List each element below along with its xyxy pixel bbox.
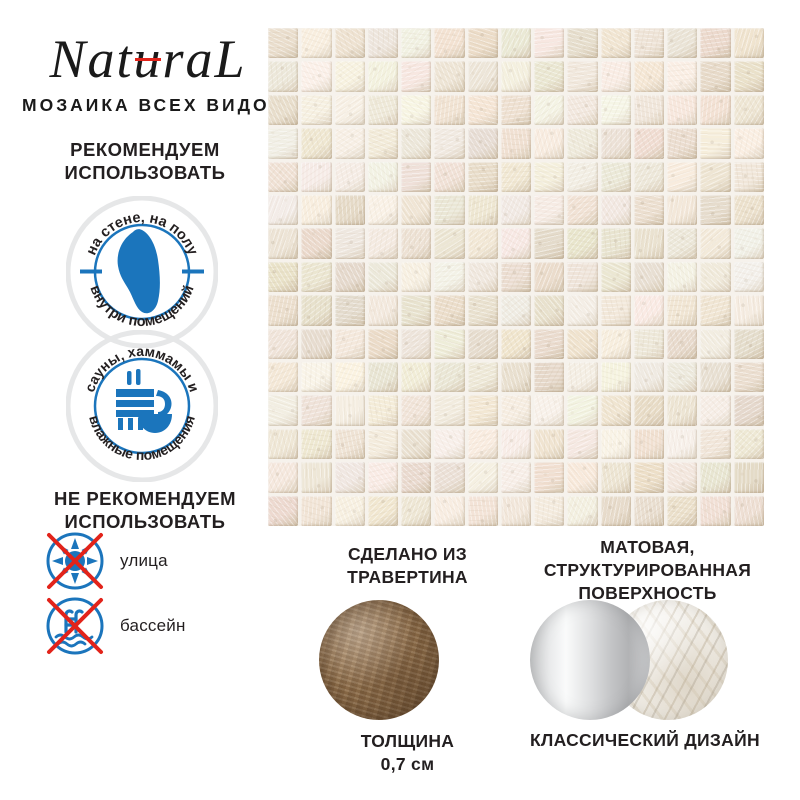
mosaic-tile	[434, 395, 464, 425]
mosaic-tile	[301, 462, 331, 492]
badge-tick-right	[182, 270, 204, 274]
mosaic-tile	[700, 195, 730, 225]
mosaic-tile	[634, 496, 664, 526]
mosaic-tile	[434, 429, 464, 459]
mosaic-tile	[734, 395, 764, 425]
mosaic-tile	[434, 228, 464, 258]
recommended-heading: РЕКОМЕНДУЕМ ИСПОЛЬЗОВАТЬ	[20, 138, 270, 184]
mosaic-tile	[734, 228, 764, 258]
mosaic-tile	[434, 162, 464, 192]
mosaic-tile	[501, 496, 531, 526]
mosaic-tile	[601, 295, 631, 325]
mosaic-tile	[567, 228, 597, 258]
mosaic-tile	[335, 329, 365, 359]
mosaic-tile	[734, 195, 764, 225]
mosaic-tile	[301, 61, 331, 91]
mosaic-tile	[434, 128, 464, 158]
mosaic-tile	[434, 28, 464, 58]
mosaic-tile	[667, 28, 697, 58]
mosaic-tile	[335, 262, 365, 292]
mosaic-tile	[368, 496, 398, 526]
feature-material-title-line2: ТРАВЕРТИНА	[295, 566, 520, 589]
mosaic-tile	[401, 195, 431, 225]
mosaic-tile	[567, 429, 597, 459]
mosaic-tile	[301, 429, 331, 459]
mosaic-tile	[634, 462, 664, 492]
mosaic-tile	[501, 95, 531, 125]
mosaic-tile	[667, 162, 697, 192]
mosaic-tile	[534, 395, 564, 425]
mosaic-tile	[534, 28, 564, 58]
mosaic-tile	[468, 329, 498, 359]
feature-surface-title-line2: СТРУКТУРИРОВАННАЯ	[515, 559, 780, 582]
mosaic-tile	[401, 262, 431, 292]
mosaic-tile	[468, 462, 498, 492]
mosaic-tile	[601, 95, 631, 125]
mosaic-tile	[301, 162, 331, 192]
mosaic-tile	[534, 329, 564, 359]
mosaic-tile	[401, 28, 431, 58]
mosaic-tile	[634, 329, 664, 359]
mosaic-tile	[401, 228, 431, 258]
mosaic-tile	[501, 362, 531, 392]
mosaic-tile	[667, 462, 697, 492]
mosaic-tile	[468, 195, 498, 225]
mosaic-tile	[734, 128, 764, 158]
mosaic-tile	[667, 128, 697, 158]
mosaic-tile	[368, 429, 398, 459]
feature-surface-title: МАТОВАЯ, СТРУКТУРИРОВАННАЯ ПОВЕРХНОСТЬ	[515, 536, 780, 604]
mosaic-tile	[534, 496, 564, 526]
mosaic-tile	[268, 228, 298, 258]
mosaic-tile	[268, 28, 298, 58]
mosaic-tile	[434, 329, 464, 359]
mosaic-tile	[734, 61, 764, 91]
mosaic-tile	[268, 61, 298, 91]
not-recommended-label-street: улица	[120, 551, 168, 571]
mosaic-tile	[434, 61, 464, 91]
mosaic-tile	[401, 395, 431, 425]
not-recommended-heading: НЕ РЕКОМЕНДУЕМ ИСПОЛЬЗОВАТЬ	[20, 487, 270, 533]
mosaic-tile	[700, 95, 730, 125]
mosaic-tile	[468, 28, 498, 58]
mosaic-tile	[567, 95, 597, 125]
mosaic-tile	[335, 61, 365, 91]
mosaic-tile	[368, 395, 398, 425]
mosaic-tile	[434, 362, 464, 392]
mosaic-tile	[268, 95, 298, 125]
mosaic-tile	[734, 28, 764, 58]
mosaic-tile	[734, 362, 764, 392]
mosaic-tile	[468, 429, 498, 459]
mosaic-tile	[301, 496, 331, 526]
mosaic-tile	[268, 262, 298, 292]
mosaic-tile	[434, 262, 464, 292]
brand-tagline: МОЗАИКА ВСЕХ ВИДОВ	[22, 95, 274, 116]
mosaic-tile	[401, 295, 431, 325]
mosaic-tile	[501, 61, 531, 91]
mosaic-tile	[734, 462, 764, 492]
badge-indoor-wall-floor: на стене, на полу внутри помещений	[66, 196, 218, 348]
mosaic-tile	[268, 128, 298, 158]
mosaic-tile	[335, 228, 365, 258]
mosaic-tile	[667, 496, 697, 526]
mosaic-tile	[734, 162, 764, 192]
mosaic-tile	[501, 228, 531, 258]
mosaic-tile	[501, 429, 531, 459]
mosaic-tile	[700, 162, 730, 192]
mosaic-tile	[567, 462, 597, 492]
feature-surface-title-line1: МАТОВАЯ,	[515, 536, 780, 559]
mosaic-tile	[567, 128, 597, 158]
mosaic-tile	[601, 462, 631, 492]
badge-sauna-wet-rooms: сауны, хаммамы и влажные помещения	[66, 330, 218, 482]
mosaic-tile	[468, 95, 498, 125]
mosaic-tile	[534, 195, 564, 225]
mosaic-tile	[534, 228, 564, 258]
mosaic-tile	[567, 262, 597, 292]
mosaic-tile	[368, 28, 398, 58]
mosaic-tile	[667, 228, 697, 258]
mosaic-tile	[601, 362, 631, 392]
mosaic-tile	[301, 329, 331, 359]
mosaic-tile	[401, 61, 431, 91]
matte-silver-swatch	[530, 600, 650, 720]
mosaic-tile	[700, 28, 730, 58]
mosaic-tile	[601, 61, 631, 91]
mosaic-tile	[268, 395, 298, 425]
mosaic-tile	[567, 395, 597, 425]
mosaic-tile	[368, 61, 398, 91]
mosaic-tile	[434, 295, 464, 325]
mosaic-tile	[301, 95, 331, 125]
mosaic-tile	[634, 262, 664, 292]
mosaic-tile	[667, 262, 697, 292]
mosaic-tile	[434, 95, 464, 125]
mosaic-tile	[335, 295, 365, 325]
mosaic-tile	[401, 128, 431, 158]
mosaic-tile	[634, 395, 664, 425]
mosaic-tile	[335, 28, 365, 58]
product-infographic: NaturaL МОЗАИКА ВСЕХ ВИДОВ РЕКОМЕНДУЕМ И…	[0, 0, 800, 800]
badge-tick-left	[80, 270, 102, 274]
mosaic-tile	[634, 362, 664, 392]
mosaic-tile	[434, 195, 464, 225]
mosaic-tile	[534, 162, 564, 192]
mosaic-tile	[335, 128, 365, 158]
mosaic-tile	[468, 362, 498, 392]
mosaic-tile	[734, 262, 764, 292]
mosaic-tile	[601, 262, 631, 292]
travertine-mosaic-image	[268, 28, 764, 526]
mosaic-tile	[534, 61, 564, 91]
mosaic-tile	[601, 429, 631, 459]
mosaic-tile	[601, 228, 631, 258]
mosaic-tile	[301, 195, 331, 225]
mosaic-tile	[401, 162, 431, 192]
mosaic-tile	[401, 329, 431, 359]
mosaic-tile	[368, 162, 398, 192]
feature-surface-title-line3: ПОВЕРХНОСТЬ	[515, 582, 780, 605]
mosaic-tile	[268, 162, 298, 192]
mosaic-tile	[301, 295, 331, 325]
brand-name: NaturaL	[49, 32, 246, 86]
mosaic-tile	[667, 295, 697, 325]
mosaic-tile	[634, 28, 664, 58]
mosaic-tile	[567, 162, 597, 192]
mosaic-tile	[634, 295, 664, 325]
mosaic-tile	[567, 329, 597, 359]
feature-design-caption: КЛАССИЧЕСКИЙ ДИЗАЙН	[505, 729, 785, 752]
mosaic-tile	[700, 61, 730, 91]
mosaic-tile	[567, 362, 597, 392]
mosaic-tile	[601, 28, 631, 58]
mosaic-tile	[501, 28, 531, 58]
feature-material-title: СДЕЛАНО ИЗ ТРАВЕРТИНА	[295, 543, 520, 589]
mosaic-tile	[534, 128, 564, 158]
mosaic-tile	[468, 295, 498, 325]
mosaic-tile	[567, 295, 597, 325]
recommended-heading-line1: РЕКОМЕНДУЕМ	[20, 138, 270, 161]
mosaic-tile	[501, 195, 531, 225]
mosaic-tile	[501, 329, 531, 359]
mosaic-tile	[335, 429, 365, 459]
mosaic-tile	[534, 295, 564, 325]
mosaic-tile	[700, 329, 730, 359]
swimming-pool-icon	[44, 595, 106, 657]
mosaic-tile	[700, 128, 730, 158]
mosaic-tile	[335, 162, 365, 192]
feature-thickness-line1: ТОЛЩИНА	[295, 730, 520, 753]
mosaic-tile	[567, 195, 597, 225]
mosaic-tile	[601, 162, 631, 192]
mosaic-tile	[301, 128, 331, 158]
mosaic-tile	[534, 262, 564, 292]
mosaic-tile	[301, 362, 331, 392]
mosaic-tile	[301, 395, 331, 425]
mosaic-tile	[700, 462, 730, 492]
mosaic-tile	[601, 195, 631, 225]
feature-thickness-caption: ТОЛЩИНА 0,7 см	[295, 730, 520, 776]
mosaic-tile	[667, 329, 697, 359]
mosaic-tile	[268, 295, 298, 325]
mosaic-tile	[268, 429, 298, 459]
mosaic-tile	[501, 128, 531, 158]
mosaic-tile	[368, 128, 398, 158]
mosaic-tile	[501, 295, 531, 325]
mosaic-tile	[368, 462, 398, 492]
sauna-bucket-icon	[116, 369, 172, 433]
mosaic-tile	[734, 496, 764, 526]
mosaic-tile	[734, 429, 764, 459]
mosaic-tile	[368, 228, 398, 258]
mosaic-tile	[468, 228, 498, 258]
mosaic-tile	[368, 295, 398, 325]
mosaic-tile	[268, 362, 298, 392]
mosaic-tile	[567, 496, 597, 526]
not-recommended-heading-line1: НЕ РЕКОМЕНДУЕМ	[20, 487, 270, 510]
recommended-heading-line2: ИСПОЛЬЗОВАТЬ	[20, 161, 270, 184]
mosaic-tile	[667, 61, 697, 91]
mosaic-tile	[601, 496, 631, 526]
mosaic-tile	[700, 496, 730, 526]
mosaic-tile	[434, 462, 464, 492]
mosaic-tile	[268, 329, 298, 359]
not-recommended-label-pool: бассейн	[120, 616, 186, 636]
mosaic-tile	[734, 295, 764, 325]
mosaic-tile	[335, 395, 365, 425]
mosaic-tile	[301, 228, 331, 258]
logo-accent-bar	[135, 58, 161, 61]
mosaic-tile	[534, 462, 564, 492]
mosaic-tile	[501, 162, 531, 192]
mosaic-tile	[268, 195, 298, 225]
mosaic-tile	[601, 128, 631, 158]
mosaic-tile	[667, 395, 697, 425]
mosaic-tile	[700, 228, 730, 258]
mosaic-tile	[401, 362, 431, 392]
mosaic-tile	[601, 395, 631, 425]
mosaic-tile	[667, 429, 697, 459]
mosaic-tile	[268, 496, 298, 526]
mosaic-tile	[335, 496, 365, 526]
mosaic-tile	[734, 95, 764, 125]
mosaic-tile	[501, 395, 531, 425]
mosaic-tile	[335, 195, 365, 225]
footprint-icon	[118, 229, 160, 313]
mosaic-tile	[368, 329, 398, 359]
mosaic-tile	[468, 128, 498, 158]
mosaic-tile	[567, 28, 597, 58]
feature-material-title-line1: СДЕЛАНО ИЗ	[295, 543, 520, 566]
mosaic-tile	[401, 496, 431, 526]
mosaic-tile	[468, 262, 498, 292]
mosaic-tile	[368, 262, 398, 292]
mosaic-tile	[268, 462, 298, 492]
brand-logo: NaturaL МОЗАИКА ВСЕХ ВИДОВ	[22, 32, 274, 116]
mosaic-tile	[335, 462, 365, 492]
mosaic-tile	[534, 429, 564, 459]
mosaic-tile	[734, 329, 764, 359]
mosaic-tile	[434, 496, 464, 526]
mosaic-tile	[368, 195, 398, 225]
mosaic-tile	[601, 329, 631, 359]
mosaic-tile	[401, 462, 431, 492]
mosaic-tile	[634, 228, 664, 258]
mosaic-tile	[634, 195, 664, 225]
mosaic-tile	[700, 395, 730, 425]
mosaic-tile	[634, 429, 664, 459]
mosaic-tile	[700, 362, 730, 392]
mosaic-tile	[534, 95, 564, 125]
feature-thickness-line2: 0,7 см	[295, 753, 520, 776]
travertine-stone-swatch	[319, 600, 439, 720]
mosaic-tile	[634, 162, 664, 192]
mosaic-tile	[368, 362, 398, 392]
mosaic-tile	[534, 362, 564, 392]
mosaic-tile	[335, 362, 365, 392]
mosaic-tile	[301, 28, 331, 58]
mosaic-tile	[468, 395, 498, 425]
mosaic-tile	[401, 95, 431, 125]
mosaic-tile	[667, 195, 697, 225]
mosaic-tile	[634, 95, 664, 125]
mosaic-tile	[468, 162, 498, 192]
mosaic-tile	[634, 61, 664, 91]
mosaic-tile	[335, 95, 365, 125]
mosaic-tile	[501, 462, 531, 492]
mosaic-tile	[368, 95, 398, 125]
mosaic-tile	[700, 295, 730, 325]
not-recommended-item-pool: бассейн	[44, 595, 186, 657]
mosaic-tile	[468, 61, 498, 91]
mosaic-tile	[667, 362, 697, 392]
mosaic-tile	[401, 429, 431, 459]
sun-outdoor-icon	[44, 530, 106, 592]
mosaic-tile	[501, 262, 531, 292]
mosaic-tile	[700, 262, 730, 292]
mosaic-tile	[301, 262, 331, 292]
mosaic-tile	[567, 61, 597, 91]
mosaic-tile	[468, 496, 498, 526]
mosaic-tile	[700, 429, 730, 459]
mosaic-tile	[667, 95, 697, 125]
not-recommended-item-street: улица	[44, 530, 168, 592]
mosaic-tile	[634, 128, 664, 158]
